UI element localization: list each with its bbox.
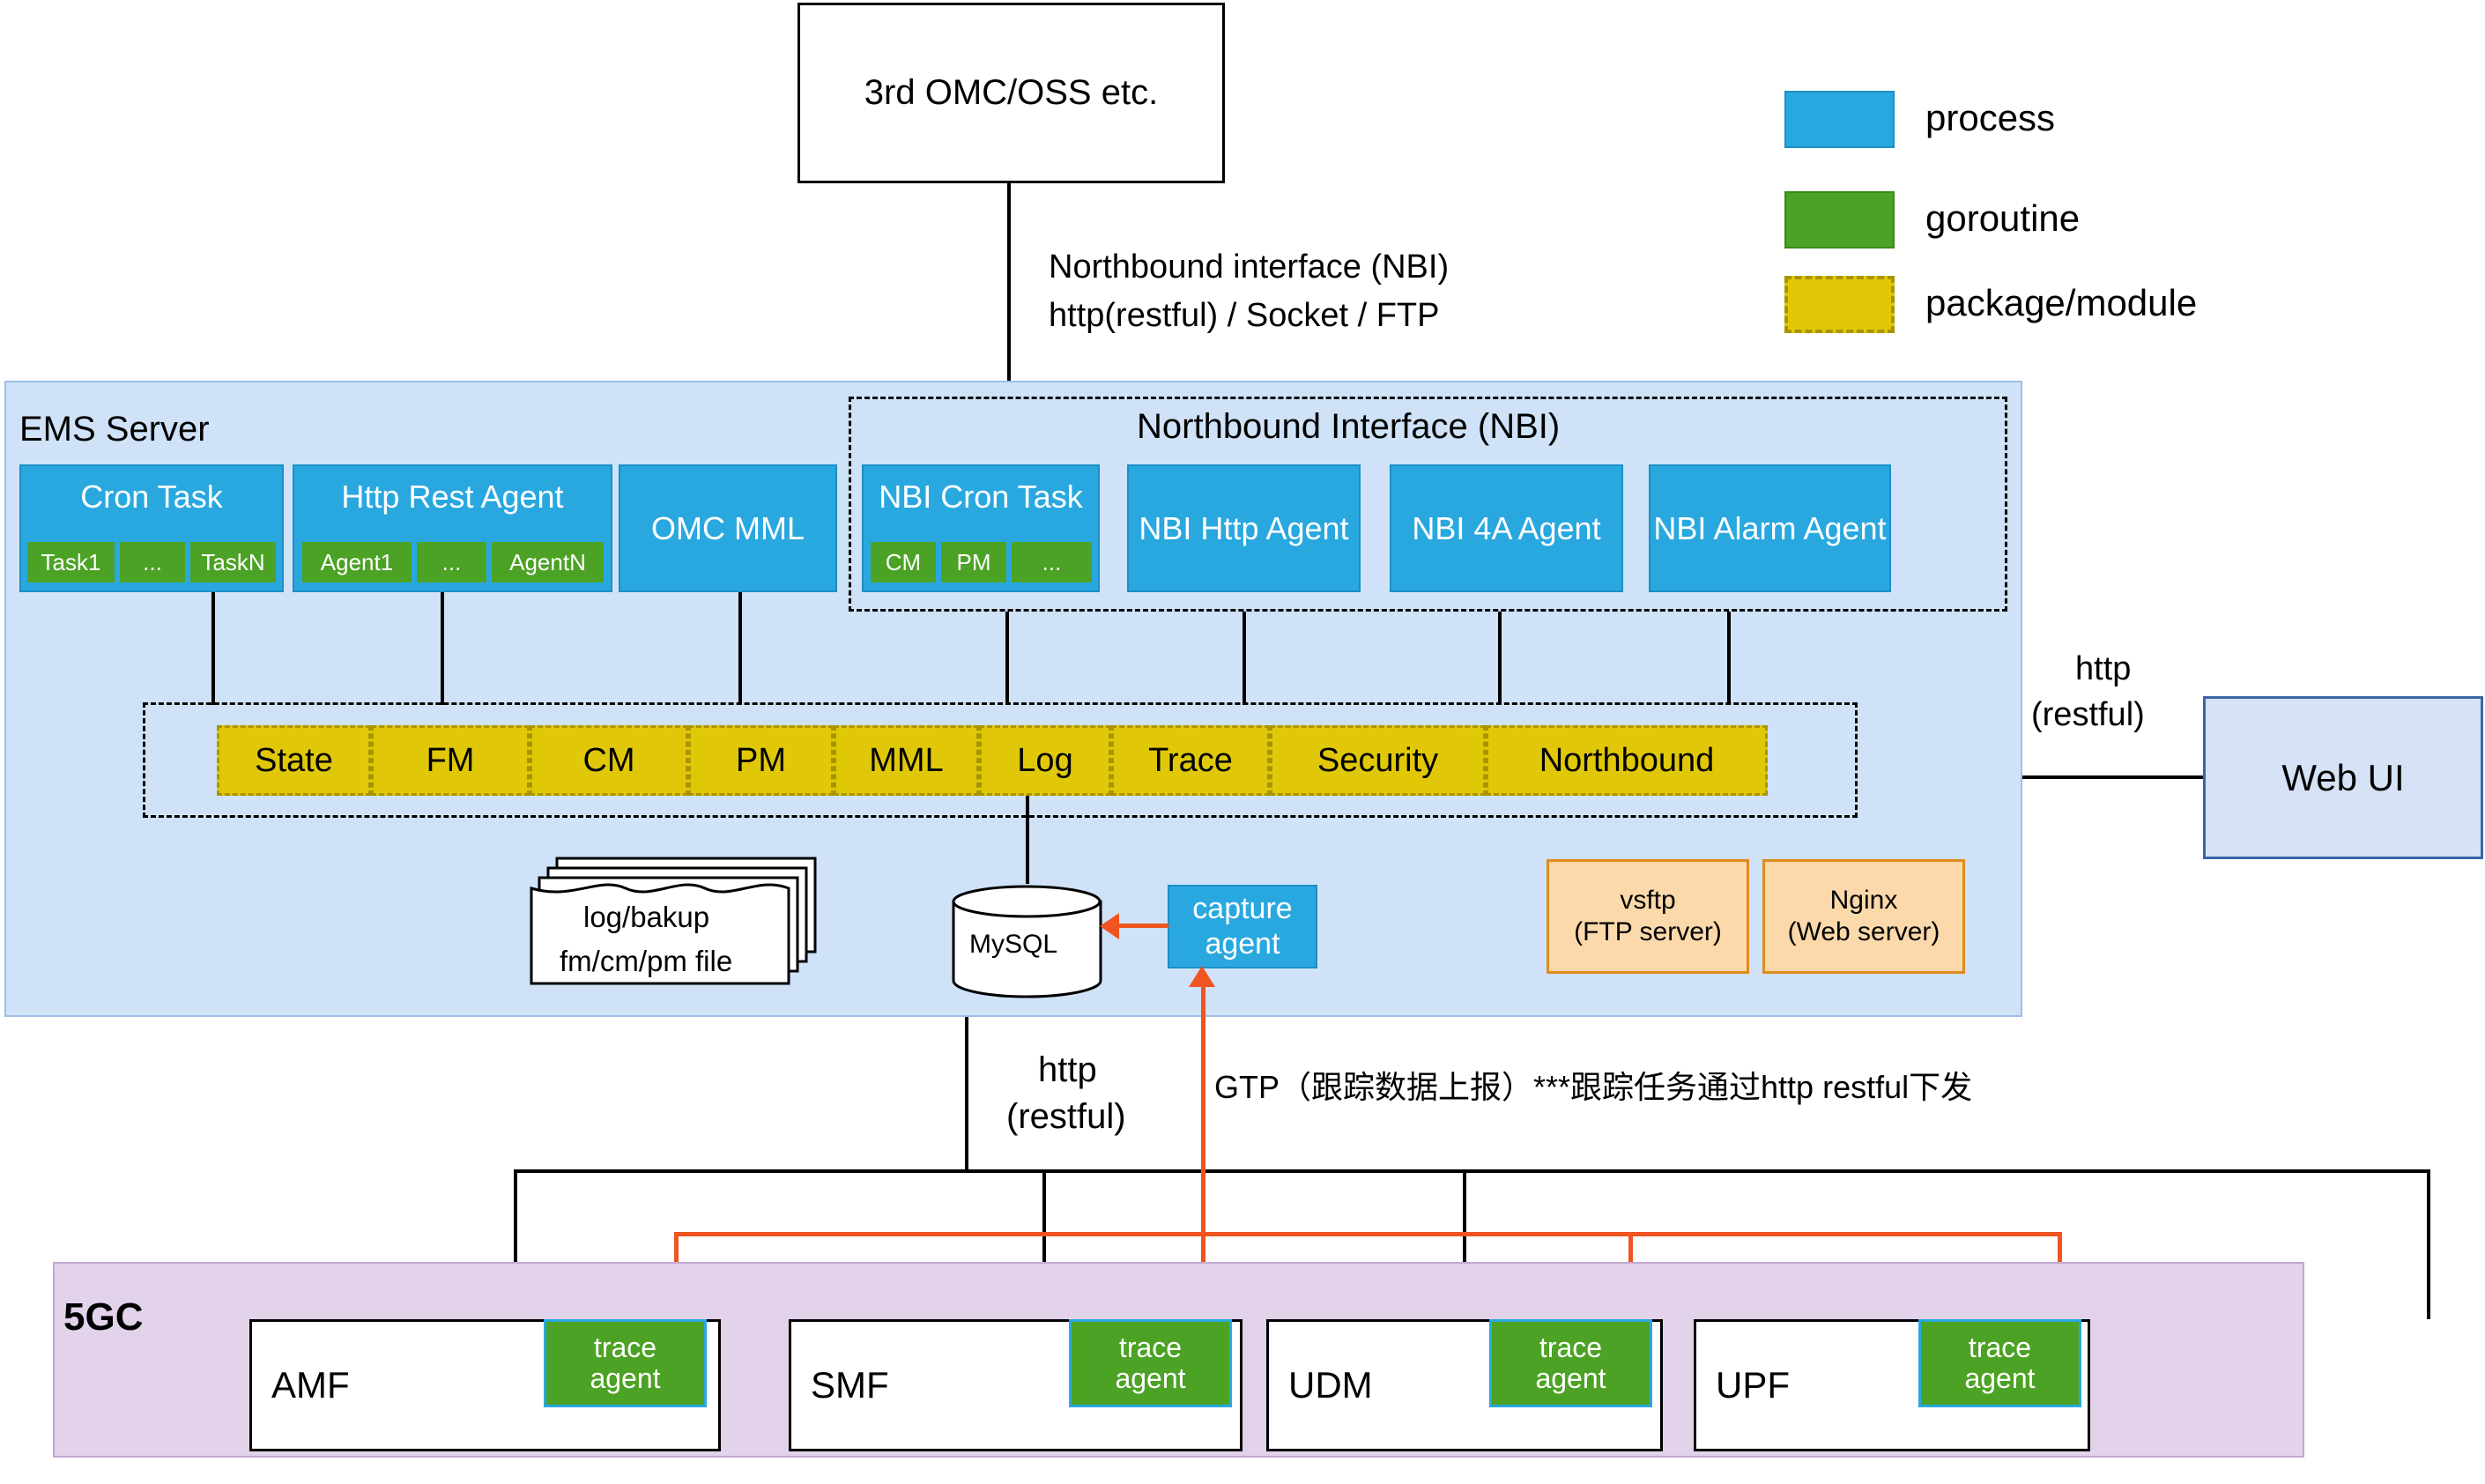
- goroutine-nbi-pm[interactable]: PM: [938, 539, 1009, 585]
- nbi-link-label-line1: Northbound interface (NBI): [1049, 249, 1449, 286]
- server-nginx-name: Nginx: [1830, 885, 1898, 916]
- goroutine-nbi-pm-label: PM: [957, 550, 991, 575]
- legend-swatch-process: [1784, 91, 1895, 148]
- process-nbi-http-agent-label: NBI Http Agent: [1139, 510, 1348, 546]
- legend: process goroutine package/module: [1784, 79, 2401, 335]
- module-cm-label: CM: [582, 742, 634, 780]
- process-nbi-4a-agent[interactable]: NBI 4A Agent: [1390, 464, 1623, 592]
- trace-agent-udm-label: trace agent: [1535, 1332, 1606, 1394]
- mysql-label: MySQL: [969, 930, 1057, 960]
- diagram-canvas: 3rd OMC/OSS etc. Northbound interface (N…: [0, 0, 2485, 1484]
- connector-omc-to-nbi: [1007, 183, 1011, 397]
- server-nginx-role: (Web server): [1788, 916, 1940, 948]
- trace-agent-udm[interactable]: trace agent: [1489, 1319, 1652, 1407]
- process-nbi-4a-agent-label: NBI 4A Agent: [1412, 510, 1600, 546]
- server-vsftp-name: vsftp: [1620, 885, 1675, 916]
- connector-cron-task-to-modules: [211, 592, 215, 705]
- trace-agent-amf-label: trace agent: [590, 1332, 660, 1394]
- web-ui-box: Web UI: [2203, 696, 2483, 859]
- module-mml[interactable]: MML: [834, 725, 979, 796]
- module-cm[interactable]: CM: [530, 725, 688, 796]
- module-state-label: State: [255, 742, 333, 780]
- process-nbi-alarm-agent[interactable]: NBI Alarm Agent: [1649, 464, 1891, 592]
- arrow-capture-to-mysql: [1117, 924, 1168, 928]
- goroutine-agentn[interactable]: AgentN: [489, 539, 606, 585]
- arrow-capture-to-mysql-head: [1100, 913, 1119, 939]
- module-log-label: Log: [1017, 742, 1072, 780]
- server-vsftp-role: (FTP server): [1574, 916, 1722, 948]
- web-ui-label: Web UI: [2281, 757, 2404, 799]
- trace-agent-amf[interactable]: trace agent: [544, 1319, 707, 1407]
- server-nginx: Nginx (Web server): [1762, 859, 1965, 974]
- goroutine-agent1-label: Agent1: [321, 550, 393, 575]
- nf-upf-label: UPF: [1716, 1364, 1790, 1406]
- file-stack-label-line1: log/bakup: [583, 901, 709, 934]
- mysql-database: MySQL: [950, 884, 1104, 998]
- ems-server-title: EMS Server: [19, 410, 210, 449]
- process-omc-mml[interactable]: OMC MML: [619, 464, 837, 592]
- file-stack-label-line2: fm/cm/pm file: [560, 945, 732, 978]
- goroutine-task-ellipsis-label: ...: [143, 550, 162, 575]
- trace-agent-upf[interactable]: trace agent: [1918, 1319, 2081, 1407]
- nf-smf-label: SMF: [811, 1364, 889, 1406]
- connector-ems-to-webui: [2022, 775, 2203, 779]
- connector-ems-to-5gc-vertical: [965, 1017, 968, 1169]
- goroutine-task1[interactable]: Task1: [25, 539, 117, 585]
- legend-label-process: process: [1925, 97, 2055, 139]
- ems-5gc-link-line1: http: [1038, 1050, 1097, 1090]
- nbi-link-label-line2: http(restful) / Socket / FTP: [1049, 297, 1439, 335]
- trace-agent-smf-label: trace agent: [1115, 1332, 1185, 1394]
- process-omc-mml-label: OMC MML: [651, 510, 805, 546]
- gtp-bus-horizontal: [674, 1232, 2062, 1236]
- connector-log-to-mysql: [1026, 796, 1029, 884]
- module-security-label: Security: [1317, 742, 1438, 780]
- process-cron-task-label: Cron Task: [80, 479, 222, 515]
- goroutine-taskn[interactable]: TaskN: [188, 539, 278, 585]
- nbi-region-title: Northbound Interface (NBI): [1137, 407, 1560, 447]
- connector-nbi-alarm-agent-to-modules: [1727, 612, 1731, 705]
- goroutine-nbi-ellipsis-label: ...: [1042, 550, 1062, 575]
- process-capture-agent[interactable]: capture agent: [1168, 885, 1317, 968]
- goroutine-task1-label: Task1: [41, 550, 101, 575]
- connector-nbi-4a-agent-to-modules: [1498, 612, 1502, 705]
- goroutine-nbi-cm-label: CM: [886, 550, 921, 575]
- nf-udm-label: UDM: [1288, 1364, 1373, 1406]
- module-fm[interactable]: FM: [371, 725, 530, 796]
- gtp-note-label: GTP（跟踪数据上报）***跟踪任务通过http restful下发: [1214, 1062, 1972, 1108]
- module-northbound-label: Northbound: [1539, 742, 1715, 780]
- module-trace[interactable]: Trace: [1111, 725, 1270, 796]
- fivegc-title: 5GC: [63, 1295, 143, 1339]
- goroutine-nbi-ellipsis[interactable]: ...: [1009, 539, 1094, 585]
- goroutine-taskn-label: TaskN: [201, 550, 264, 575]
- webui-link-label-line2: (restful): [2031, 696, 2145, 734]
- goroutine-agent1[interactable]: Agent1: [300, 539, 414, 585]
- goroutine-agent-ellipsis-label: ...: [442, 550, 462, 575]
- module-trace-label: Trace: [1148, 742, 1233, 780]
- trace-agent-upf-label: trace agent: [1964, 1332, 2035, 1394]
- process-nbi-alarm-agent-label: NBI Alarm Agent: [1653, 510, 1886, 546]
- external-system-box: 3rd OMC/OSS etc.: [797, 3, 1225, 183]
- external-system-label: 3rd OMC/OSS etc.: [864, 73, 1158, 113]
- file-stack: log/bakup fm/cm/pm file: [529, 853, 820, 994]
- process-nbi-http-agent[interactable]: NBI Http Agent: [1127, 464, 1361, 592]
- trace-agent-smf[interactable]: trace agent: [1069, 1319, 1232, 1407]
- connector-http-rest-agent-to-modules: [441, 592, 444, 705]
- module-northbound[interactable]: Northbound: [1486, 725, 1768, 796]
- nf-amf-label: AMF: [271, 1364, 350, 1406]
- goroutine-agent-ellipsis[interactable]: ...: [414, 539, 489, 585]
- webui-link-label-line1: http: [2075, 650, 2131, 688]
- legend-label-module: package/module: [1925, 282, 2197, 324]
- connector-nbi-http-agent-to-modules: [1242, 612, 1246, 705]
- module-security[interactable]: Security: [1270, 725, 1486, 796]
- connector-nbi-cron-task-to-modules: [1005, 612, 1009, 705]
- connector-omc-mml-to-modules: [738, 592, 742, 705]
- process-capture-agent-label: capture agent: [1192, 892, 1292, 961]
- module-pm-label: PM: [736, 742, 786, 780]
- process-http-rest-agent-label: Http Rest Agent: [341, 479, 563, 515]
- module-state[interactable]: State: [217, 725, 371, 796]
- goroutine-task-ellipsis[interactable]: ...: [117, 539, 188, 585]
- module-log[interactable]: Log: [979, 725, 1111, 796]
- ems-5gc-link-line2: (restful): [1006, 1097, 1126, 1137]
- module-fm-label: FM: [427, 742, 475, 780]
- goroutine-agentn-label: AgentN: [509, 550, 586, 575]
- gtp-riser-arrowhead: [1189, 966, 1215, 987]
- legend-label-goroutine: goroutine: [1925, 197, 2080, 240]
- process-nbi-cron-task-label: NBI Cron Task: [879, 479, 1082, 515]
- legend-swatch-goroutine: [1784, 191, 1895, 249]
- module-pm[interactable]: PM: [688, 725, 834, 796]
- goroutine-nbi-cm[interactable]: CM: [868, 539, 938, 585]
- bus-5gc-horizontal: [514, 1169, 2430, 1173]
- drop-to-upf: [2427, 1169, 2430, 1319]
- legend-swatch-module: [1784, 276, 1895, 333]
- server-vsftp: vsftp (FTP server): [1547, 859, 1749, 974]
- module-mml-label: MML: [869, 742, 943, 780]
